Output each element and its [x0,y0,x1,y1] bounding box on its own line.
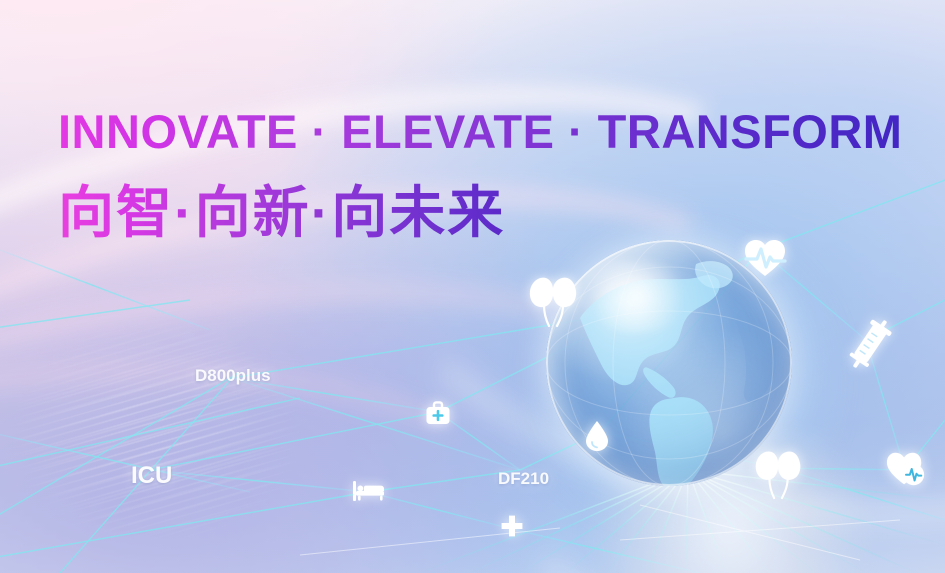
kidneys-icon [752,446,806,502]
product-label-icu: ICU [131,462,172,490]
heart-monitor-icon [884,448,928,490]
product-label-d800plus: D800plus [195,366,271,386]
page-subtitle: 向智·向新·向未来 [58,168,505,249]
product-label-df210: DF210 [498,469,549,489]
page-title: INNOVATE · ELEVATE · TRANSFORM [58,104,902,159]
water-drop-icon [584,420,610,452]
hospital-bed-icon [352,478,386,504]
hero-banner: INNOVATE · ELEVATE · TRANSFORM 向智·向新·向未来… [0,0,945,573]
syringe-icon [848,316,892,372]
globe-highlight [580,260,693,334]
kidneys-icon [526,272,582,330]
heart-pulse-icon [742,236,788,282]
medical-cross-icon [500,514,524,538]
medical-bag-icon [425,400,451,426]
